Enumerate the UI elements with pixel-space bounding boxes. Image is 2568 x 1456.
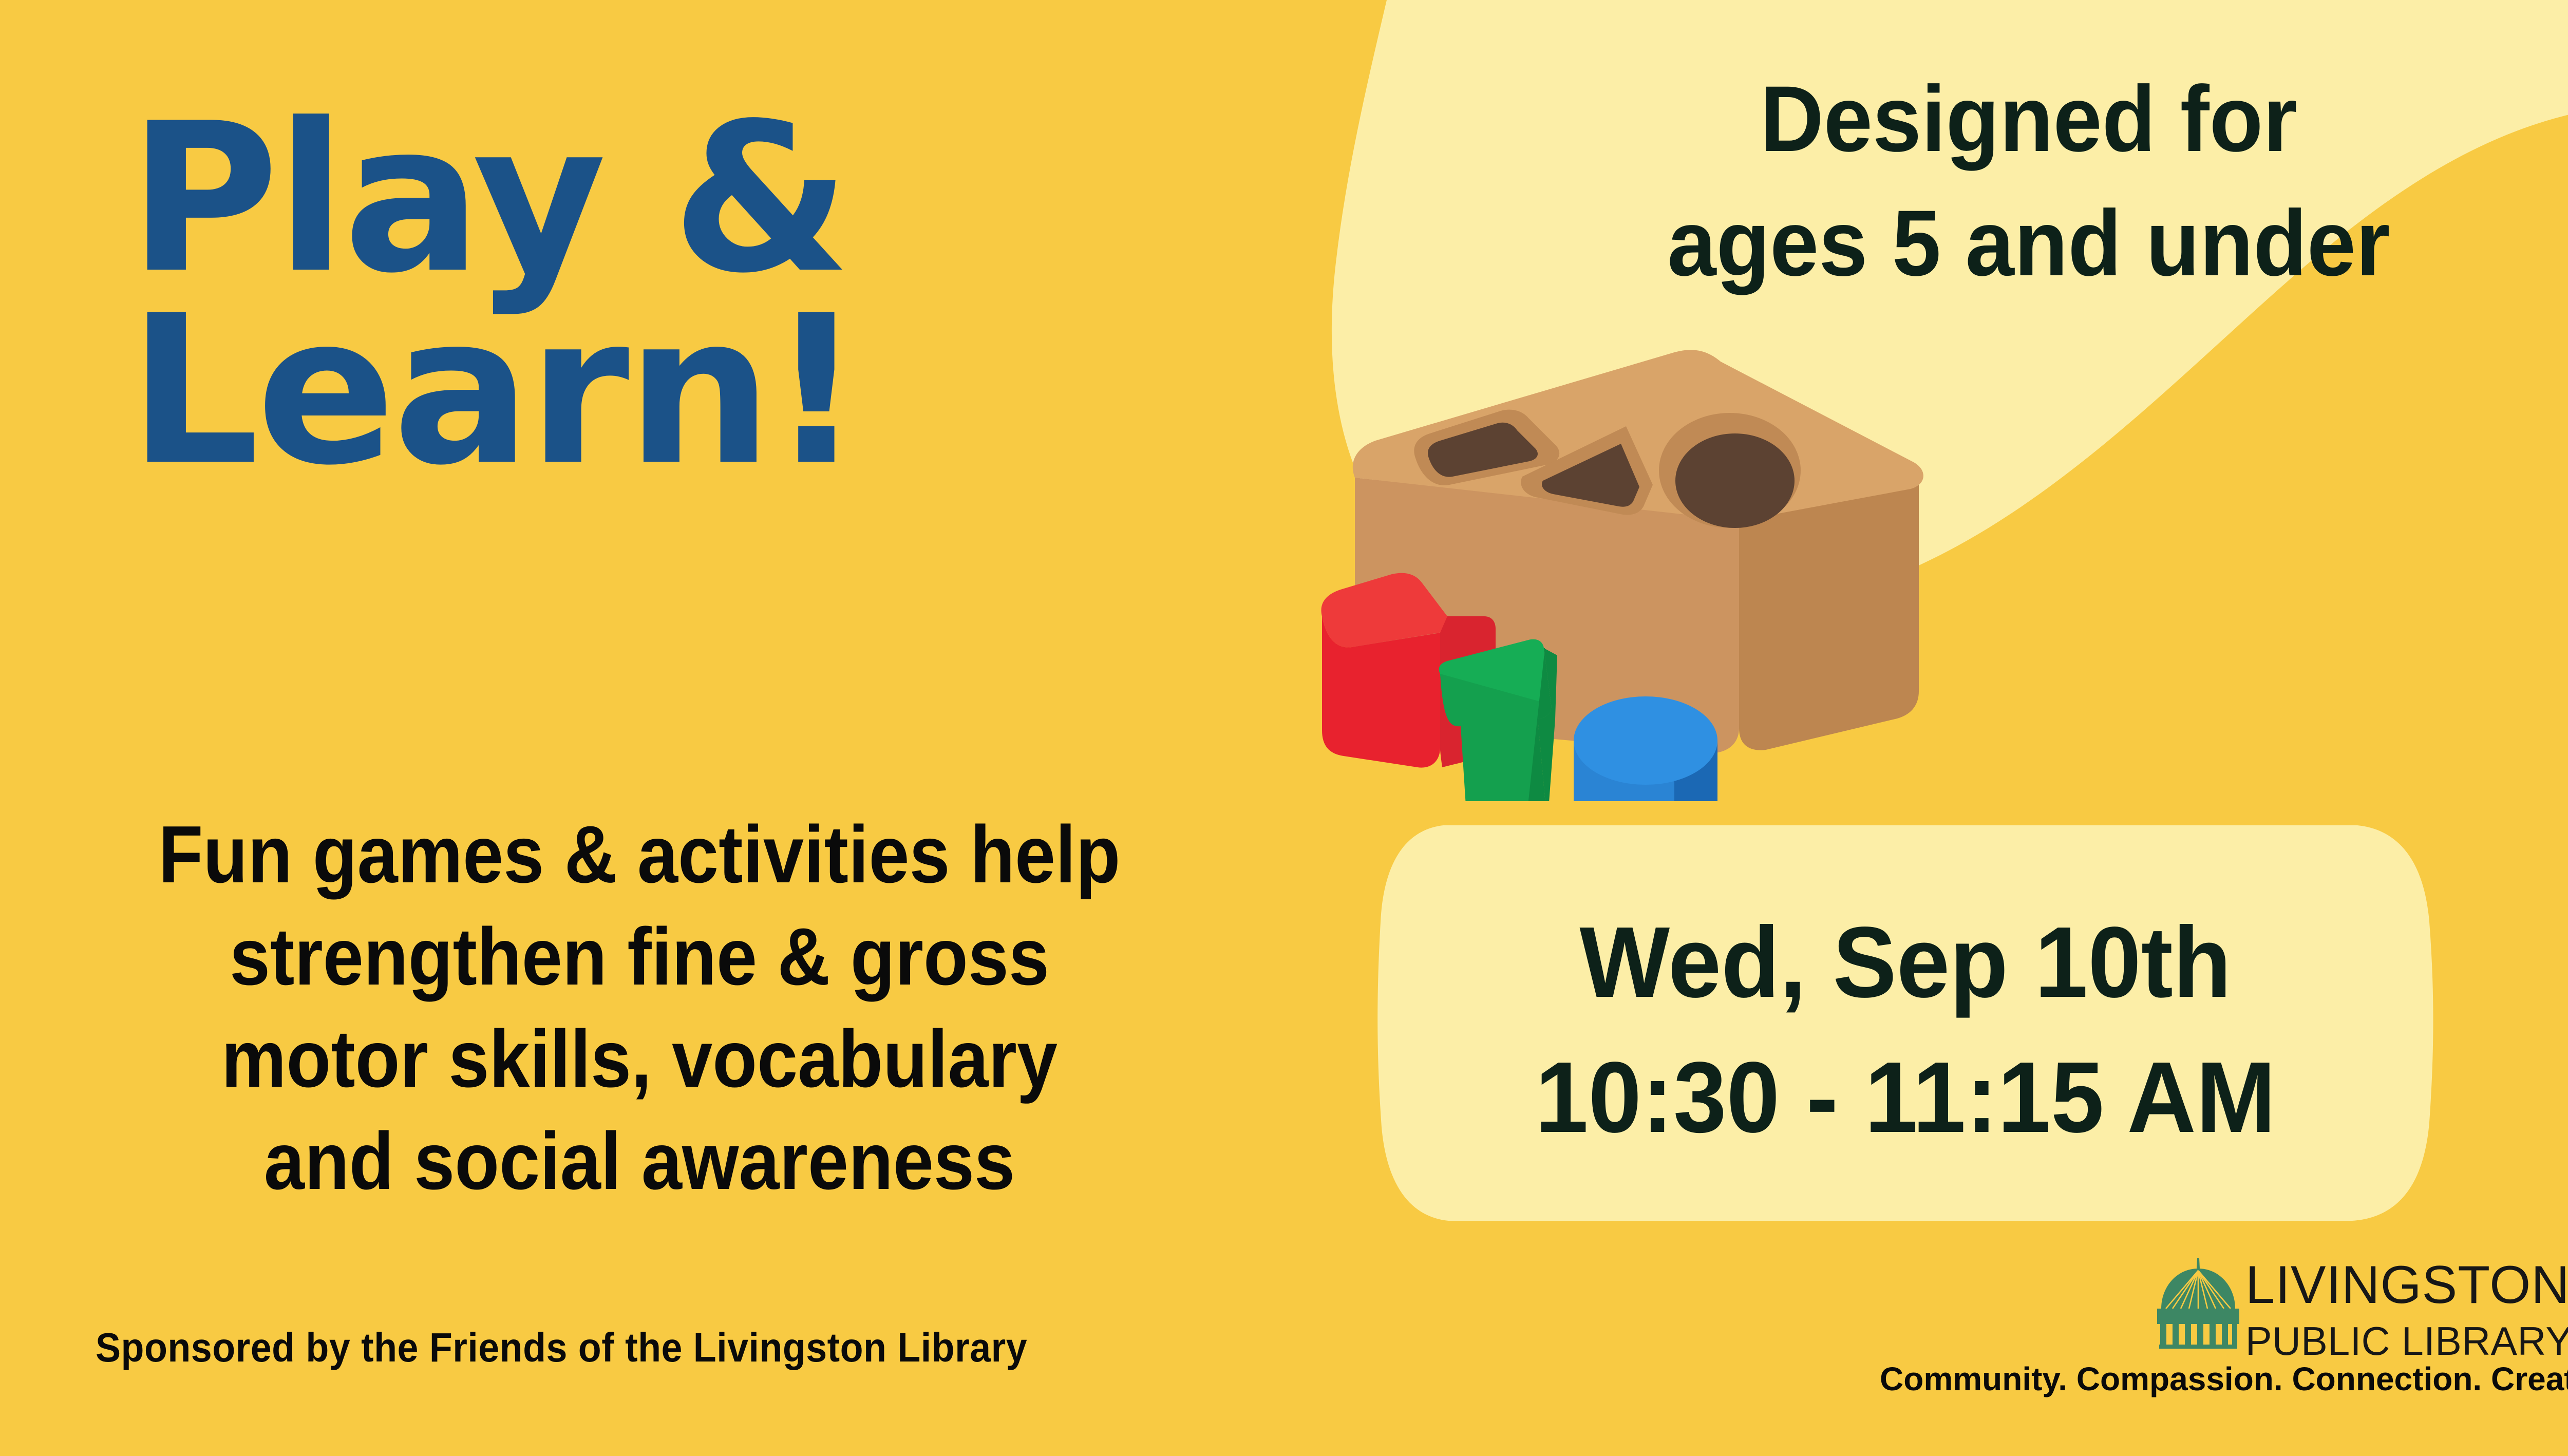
library-wordmark: LIVINGSTON PUBLIC LIBRARY: [2245, 1258, 2548, 1361]
library-dome-icon: [2157, 1257, 2239, 1349]
blue-cylinder-block-top: [1574, 696, 1717, 785]
poster-title: Play & Learn!: [128, 98, 1181, 493]
shape-sorter-toy-illustration: [1315, 308, 1972, 801]
description-text: Fun games & activities help strengthen f…: [124, 804, 1155, 1213]
dome-finial: [2197, 1258, 2200, 1269]
description-line-1: Fun games & activities help: [124, 804, 1155, 906]
library-logo: LIVINGSTON PUBLIC LIBRARY: [2157, 1257, 2547, 1350]
audience-line-2: ages 5 and under: [1556, 181, 2502, 305]
event-date: Wed, Sep 10th: [1403, 895, 2408, 1030]
title-line-2: Learn!: [128, 290, 1181, 493]
event-date-card: Wed, Sep 10th 10:30 - 11:15 AM: [1376, 824, 2434, 1222]
event-time: 10:30 - 11:15 AM: [1403, 1030, 2408, 1165]
colonnade-base: [2159, 1345, 2237, 1349]
description-line-3: motor skills, vocabulary: [124, 1008, 1155, 1110]
dome-entablature: [2157, 1309, 2239, 1324]
audience-headline: Designed for ages 5 and under: [1556, 56, 2502, 305]
description-line-2: strengthen fine & gross: [124, 906, 1155, 1008]
left-content-column: Play & Learn! Fun games & activities hel…: [0, 0, 1299, 1456]
title-line-1: Play &: [128, 98, 1181, 301]
library-tagline: Community. Compassion. Connection. Creat…: [1880, 1360, 2547, 1398]
event-datetime-text: Wed, Sep 10th 10:30 - 11:15 AM: [1403, 895, 2408, 1165]
audience-line-1: Designed for: [1556, 56, 2502, 181]
description-line-4: and social awareness: [124, 1110, 1155, 1213]
library-name-line-2: PUBLIC LIBRARY: [2245, 1321, 2545, 1361]
circle-hole-opening: [1675, 433, 1795, 528]
sponsor-credit: Sponsored by the Friends of the Livingst…: [96, 1324, 1027, 1371]
library-name-line-1: LIVINGSTON: [2245, 1258, 2545, 1312]
poster-canvas: Play & Learn! Fun games & activities hel…: [0, 0, 2568, 1456]
colonnade-columns: [2160, 1324, 2237, 1345]
